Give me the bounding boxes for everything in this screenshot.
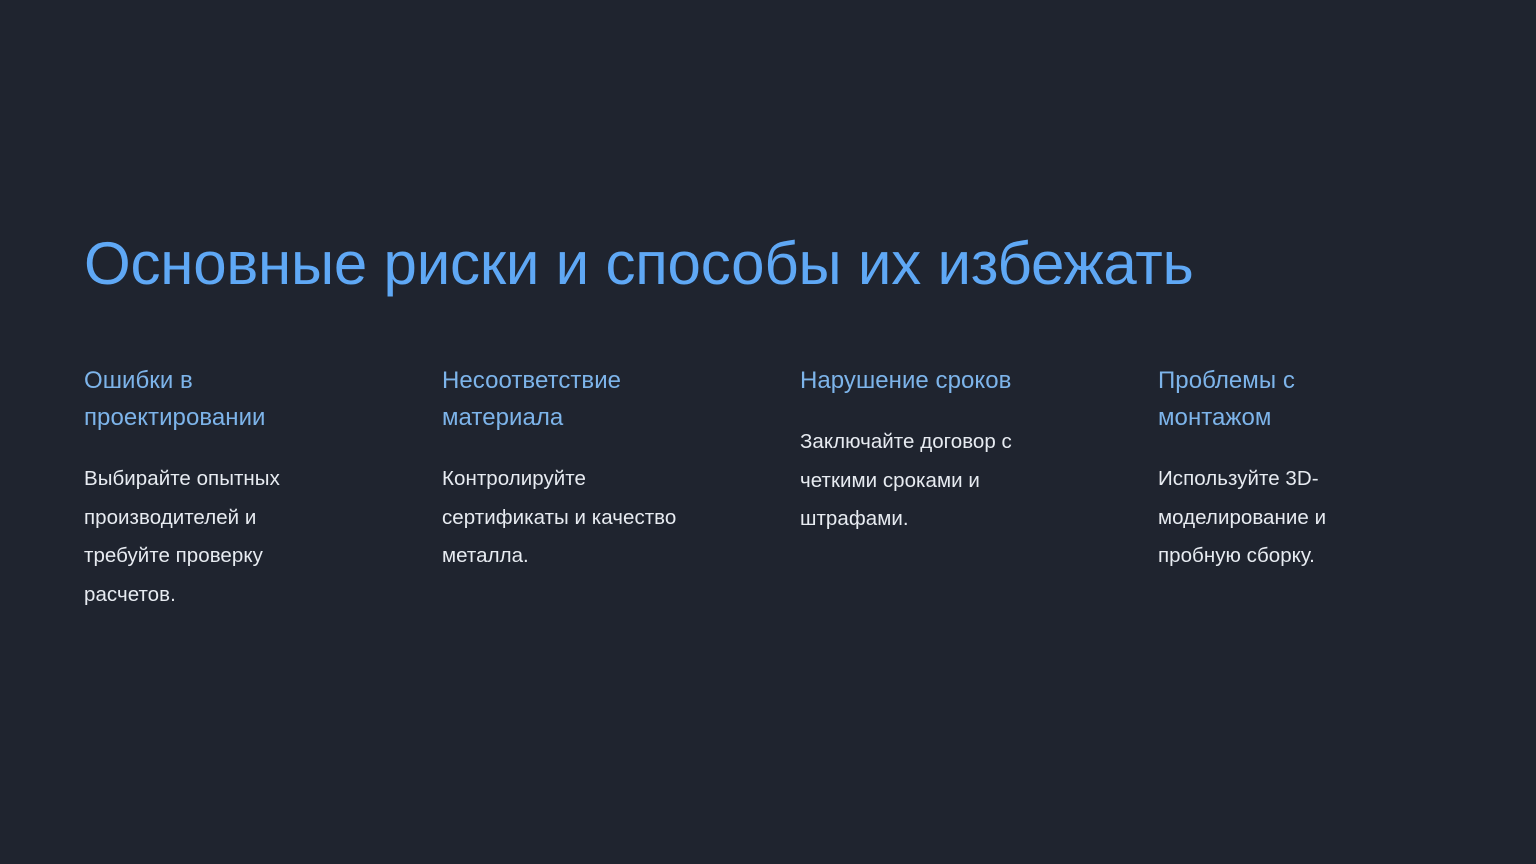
risk-heading: Несоответствие материала <box>442 362 692 436</box>
risk-heading: Ошибки в проектировании <box>84 362 334 436</box>
risk-body: Выбирайте опытных производителей и требу… <box>84 460 346 614</box>
risk-columns-container: Ошибки в проектировании Выбирайте опытны… <box>84 362 1456 614</box>
page-title: Основные риски и способы их избежать <box>84 226 1414 302</box>
risk-column-installation-problems: Проблемы с монтажом Используйте 3D-модел… <box>1158 362 1456 576</box>
risk-body: Используйте 3D-моделирование и пробную с… <box>1158 460 1398 576</box>
risk-body: Заключайте договор с четкими сроками и ш… <box>800 423 1090 539</box>
risk-column-material-mismatch: Несоответствие материала Контролируйте с… <box>442 362 800 576</box>
slide-canvas: Основные риски и способы их избежать Оши… <box>0 0 1536 864</box>
risk-body: Контролируйте сертификаты и качество мет… <box>442 460 692 576</box>
risk-column-deadline-violation: Нарушение сроков Заключайте договор с че… <box>800 362 1158 539</box>
risk-column-design-errors: Ошибки в проектировании Выбирайте опытны… <box>84 362 442 614</box>
risk-heading: Нарушение сроков <box>800 362 1011 399</box>
risk-heading: Проблемы с монтажом <box>1158 362 1388 436</box>
